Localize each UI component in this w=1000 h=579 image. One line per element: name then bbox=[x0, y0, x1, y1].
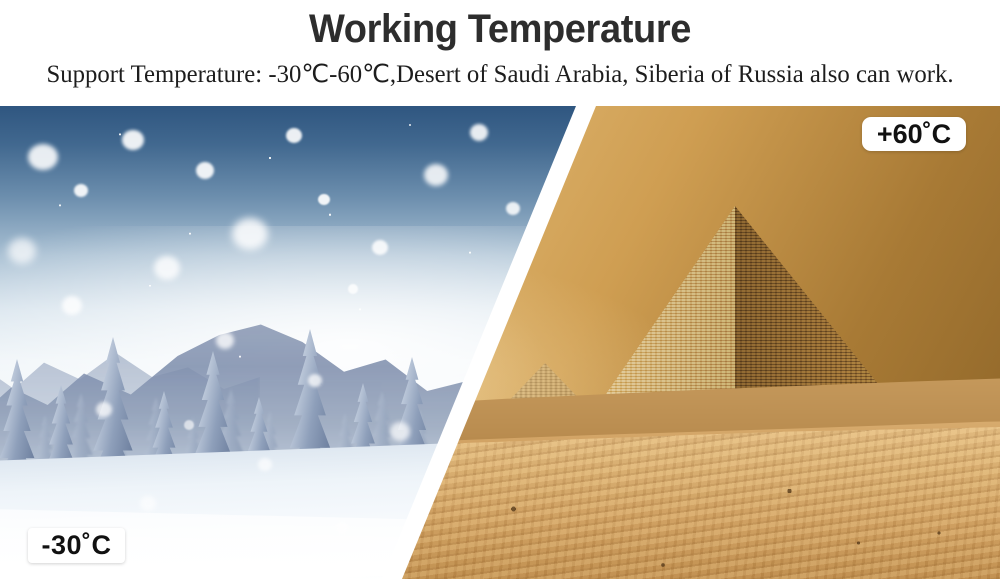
cold-temperature-badge: -30˚C bbox=[28, 528, 125, 563]
hot-temperature-badge: +60˚C bbox=[862, 117, 966, 151]
page-title: Working Temperature bbox=[25, 6, 975, 52]
comparison-photo-strip: -30˚C +60˚C bbox=[0, 106, 1000, 579]
header-banner: Working Temperature Support Temperature:… bbox=[0, 0, 1000, 106]
page-subtitle: Support Temperature: -30℃-60℃,Desert of … bbox=[5, 60, 995, 90]
